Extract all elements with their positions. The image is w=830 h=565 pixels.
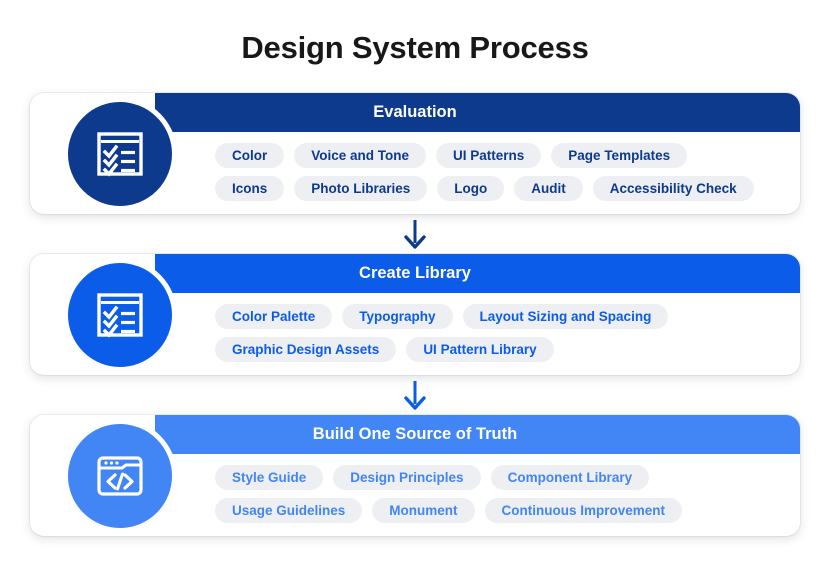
tag-item[interactable]: Photo Libraries (294, 176, 427, 201)
tag-row: Color Voice and Tone UI Patterns Page Te… (215, 143, 784, 168)
tag-item[interactable]: UI Pattern Library (406, 337, 553, 362)
connector-arrow-2 (0, 375, 830, 415)
stage-header-title: Build One Source of Truth (155, 415, 800, 454)
tag-row: Graphic Design Assets UI Pattern Library (215, 337, 784, 362)
tag-row: Style Guide Design Principles Component … (215, 465, 784, 490)
checklist-icon (63, 97, 177, 211)
tag-item[interactable]: Continuous Improvement (485, 498, 683, 523)
stage-body: Style Guide Design Principles Component … (155, 454, 800, 536)
tag-item[interactable]: Audit (514, 176, 583, 201)
arrow-down-icon (402, 219, 428, 249)
tag-item[interactable]: Design Principles (333, 465, 480, 490)
stage-body: Color Palette Typography Layout Sizing a… (155, 293, 800, 375)
tag-item[interactable]: Component Library (491, 465, 650, 490)
tag-item[interactable]: Style Guide (215, 465, 323, 490)
stage-header-title: Create Library (155, 254, 800, 293)
tag-item[interactable]: Color (215, 143, 284, 168)
stage-header-title: Evaluation (155, 93, 800, 132)
tag-item[interactable]: Icons (215, 176, 284, 201)
tag-item[interactable]: Page Templates (551, 143, 687, 168)
tag-item[interactable]: Accessibility Check (593, 176, 754, 201)
tag-item[interactable]: Typography (342, 304, 452, 329)
tag-item[interactable]: Layout Sizing and Spacing (463, 304, 669, 329)
page-title: Design System Process (0, 30, 830, 66)
stage-card-evaluation: Evaluation Color Voice and Tone UI Patte… (30, 93, 800, 214)
arrow-down-icon (402, 380, 428, 410)
stage-card-create-library: Create Library Color Palette Typography … (30, 254, 800, 375)
tag-item[interactable]: Graphic Design Assets (215, 337, 396, 362)
tag-row: Color Palette Typography Layout Sizing a… (215, 304, 784, 329)
checklist-icon (63, 258, 177, 372)
tag-row: Usage Guidelines Monument Continuous Imp… (215, 498, 784, 523)
tag-item[interactable]: Logo (437, 176, 504, 201)
tag-row: Icons Photo Libraries Logo Audit Accessi… (215, 176, 784, 201)
tag-item[interactable]: Monument (372, 498, 474, 523)
stage-card-build-one-source-of-truth: Build One Source of Truth Style Guide De… (30, 415, 800, 536)
code-window-icon (63, 419, 177, 533)
stage-body: Color Voice and Tone UI Patterns Page Te… (155, 132, 800, 214)
tag-item[interactable]: Color Palette (215, 304, 332, 329)
connector-arrow-1 (0, 214, 830, 254)
process-flow: Evaluation Color Voice and Tone UI Patte… (0, 93, 830, 536)
tag-item[interactable]: UI Patterns (436, 143, 541, 168)
design-system-process-infographic: Design System Process Evaluation (0, 0, 830, 565)
tag-item[interactable]: Voice and Tone (294, 143, 426, 168)
tag-item[interactable]: Usage Guidelines (215, 498, 362, 523)
